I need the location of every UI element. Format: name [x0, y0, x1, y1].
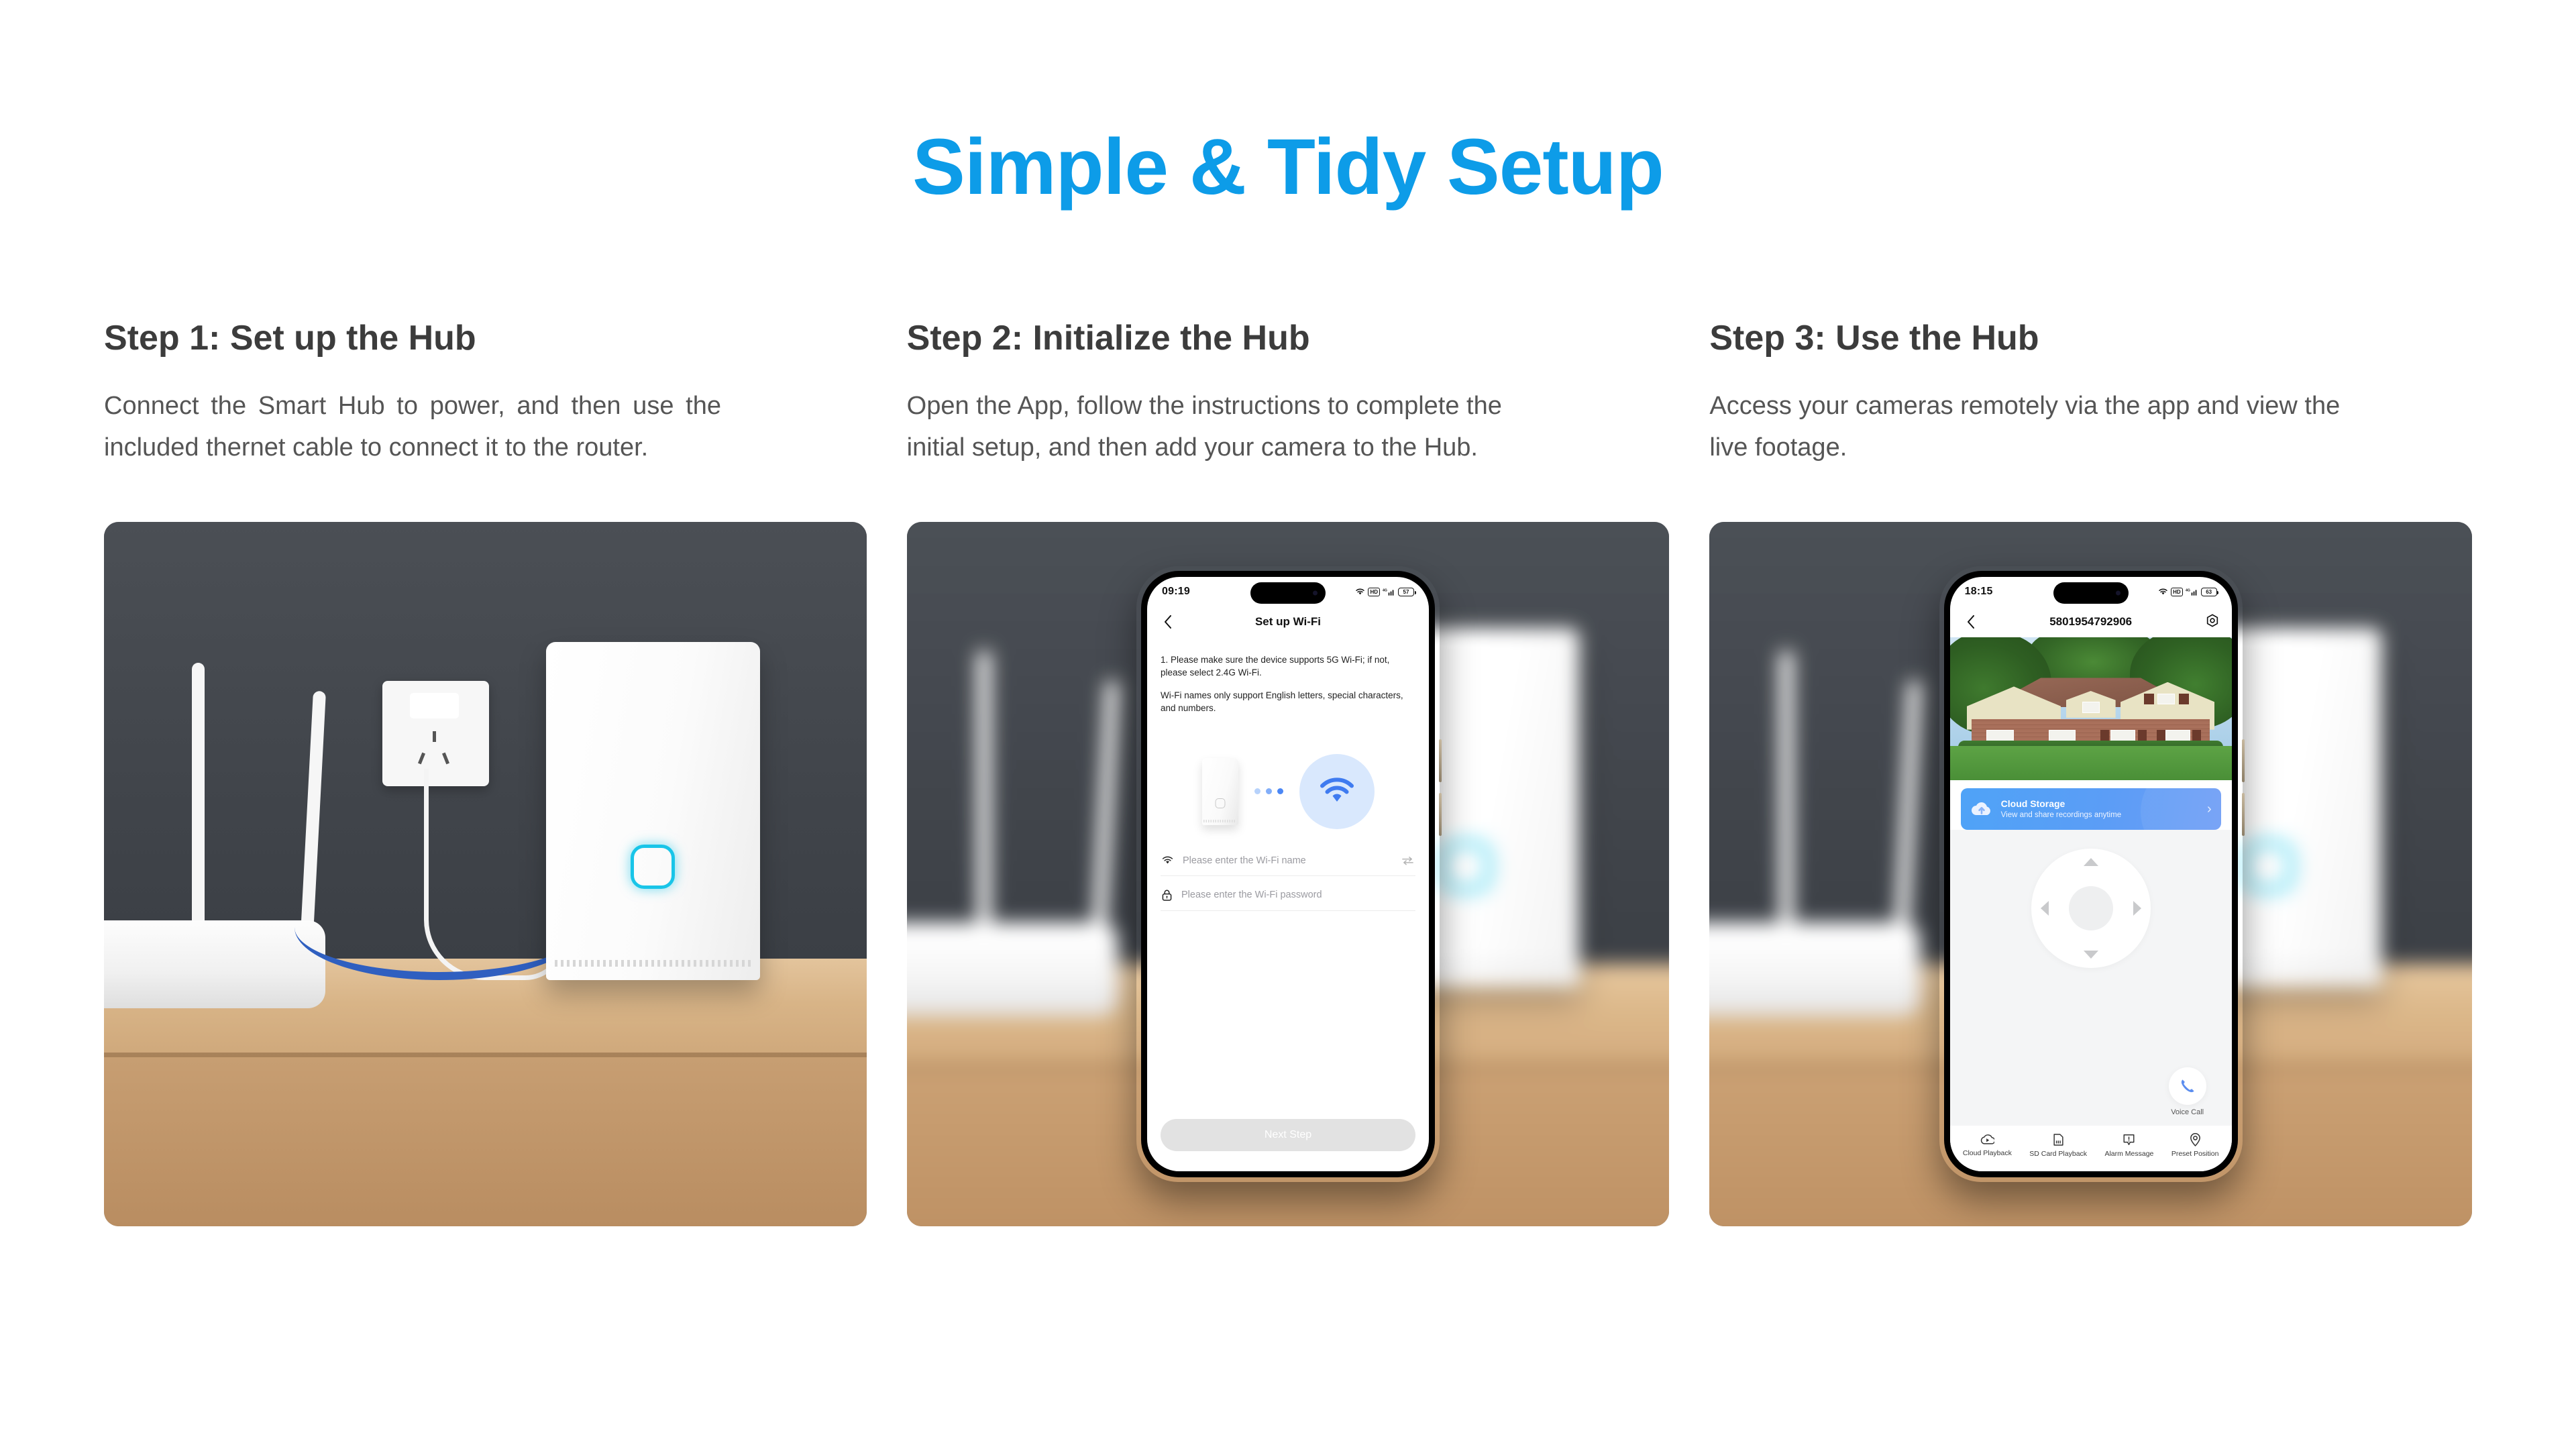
status-time: 09:19 [1162, 586, 1190, 598]
status-time: 18:15 [1965, 586, 1993, 598]
dynamic-island [2053, 582, 2129, 604]
socket-hole-left [418, 752, 425, 764]
hub-vent-illustration [1203, 820, 1236, 822]
step-3-body: Access your cameras remotely via the app… [1709, 386, 2340, 468]
socket-hole-top [433, 731, 436, 742]
lawn [1950, 746, 2232, 780]
front-camera-icon [1313, 591, 1318, 596]
ptz-left-icon[interactable] [2041, 901, 2049, 916]
pairing-diagram [1161, 741, 1415, 842]
step-2-text: Step 2: Initialize the Hub Open the App,… [907, 319, 1670, 468]
phone-volume-up-button[interactable] [1439, 739, 1442, 782]
tab-sd-card-playback[interactable]: SD Card Playback [2029, 1133, 2087, 1158]
svg-text:4G: 4G [1383, 588, 1387, 592]
tab-cloud-playback[interactable]: Cloud Playback [1963, 1133, 2012, 1157]
shutter [2179, 694, 2189, 704]
device-id-title: 5801954792906 [1950, 615, 2232, 629]
ptz-right-icon[interactable] [2133, 901, 2141, 916]
tab-label: Cloud Playback [1963, 1149, 2012, 1157]
desk-front [104, 1057, 867, 1226]
step-1-body: Connect the Smart Hub to power, and then… [104, 386, 721, 468]
dynamic-island [1250, 582, 1326, 604]
step-3-heading: Step 3: Use the Hub [1709, 319, 2472, 358]
battery-level: 63 [2206, 589, 2212, 595]
voice-call-label: Voice Call [2171, 1108, 2204, 1116]
wifi-note-2: Wi-Fi names only support English letters… [1161, 689, 1415, 714]
chevron-right-icon[interactable]: › [2207, 802, 2212, 817]
shutter [2144, 694, 2154, 704]
cloud-storage-title: Cloud Storage [2001, 798, 2121, 810]
wifi-setup-screen: 09:19 HD 4G [1147, 577, 1429, 1171]
phone-wifi-setup: 09:19 HD 4G [1136, 566, 1440, 1182]
wifi-note-1: 1. Please make sure the device supports … [1161, 653, 1415, 679]
battery-icon: 57 [1398, 588, 1414, 596]
status-icons: HD 4G 57 [1355, 588, 1414, 596]
house [1967, 675, 2215, 749]
cloud-storage-banner[interactable]: Cloud Storage View and share recordings … [1961, 788, 2221, 830]
step-1-text: Step 1: Set up the Hub Connect the Smart… [104, 319, 867, 468]
nav-bar: 5801954792906 [1950, 606, 2232, 637]
hd-badge: HD [2171, 588, 2183, 596]
next-step-container: Next Step [1161, 1119, 1415, 1171]
step-2-heading: Step 2: Initialize the Hub [907, 319, 1670, 358]
wifi-large-icon [1319, 777, 1355, 806]
phone-live-view: 18:15 HD 4G [1939, 566, 2243, 1182]
phone-bezel: 18:15 HD 4G [1944, 571, 2238, 1177]
hub-router-scene [104, 522, 867, 1226]
router-antenna-left [1780, 650, 1793, 934]
alert-message-icon [2122, 1133, 2136, 1146]
cloud-upload-icon [1970, 800, 1993, 818]
wifi-icon [1355, 588, 1365, 596]
wifi-bubble-icon [1299, 754, 1375, 829]
cloud-storage-text: Cloud Storage View and share recordings … [2001, 798, 2121, 820]
smart-hub [546, 642, 759, 980]
connection-dots [1254, 788, 1283, 794]
cellular-signal-icon: 4G [2186, 588, 2198, 596]
step-2-body: Open the App, follow the instructions to… [907, 386, 1538, 468]
tab-label: Alarm Message [2104, 1150, 2153, 1158]
wifi-name-field[interactable]: Please enter the Wi-Fi name [1161, 846, 1415, 876]
step-3-photo: 18:15 HD 4G [1709, 522, 2472, 1226]
phone-volume-down-button[interactable] [2242, 793, 2245, 836]
settings-nut-icon[interactable] [2205, 613, 2220, 631]
gable-window [2157, 694, 2175, 704]
router-body [104, 920, 325, 1008]
tab-label: SD Card Playback [2029, 1150, 2087, 1158]
voice-call-button[interactable]: Voice Call [2169, 1067, 2206, 1116]
status-bar: 18:15 HD 4G [1950, 577, 2232, 606]
lock-icon [1162, 890, 1172, 901]
step-2-photo: 09:19 HD 4G [907, 522, 1670, 1226]
wifi-password-placeholder: Please enter the Wi-Fi password [1181, 890, 1414, 900]
location-pin-icon [2189, 1132, 2202, 1146]
router-body [907, 923, 1118, 1016]
nav-bar: Set up Wi-Fi [1147, 606, 1429, 637]
phone-volume-up-button[interactable] [2242, 739, 2245, 782]
step-3-text: Step 3: Use the Hub Access your cameras … [1709, 319, 2472, 468]
ptz-down-icon[interactable] [2084, 951, 2098, 959]
phone-volume-down-button[interactable] [1439, 793, 1442, 836]
router-body [1709, 923, 1921, 1016]
router-antenna-left [977, 650, 990, 934]
status-bar: 09:19 HD 4G [1147, 577, 1429, 606]
tab-preset-position[interactable]: Preset Position [2171, 1132, 2219, 1158]
live-view-screen: 18:15 HD 4G [1950, 577, 2232, 1171]
bottom-tab-bar: Cloud Playback SD Card Playback [1950, 1126, 2232, 1171]
battery-icon: 63 [2201, 588, 2217, 596]
hub-illustration [1202, 758, 1238, 825]
hd-badge: HD [1368, 588, 1380, 596]
switch-arrows-icon[interactable] [1401, 856, 1414, 865]
ptz-center-button[interactable] [2069, 886, 2113, 930]
sd-card-icon [2052, 1133, 2065, 1146]
next-step-button[interactable]: Next Step [1161, 1119, 1415, 1151]
cloud-play-icon [1980, 1133, 1994, 1146]
wifi-icon [2158, 588, 2168, 596]
phone-icon [2169, 1067, 2206, 1105]
status-icons: HD 4G 63 [2158, 588, 2217, 596]
power-plug [410, 693, 459, 718]
steps-text-row: Step 1: Set up the Hub Connect the Smart… [0, 319, 2576, 468]
wifi-setup-body: 1. Please make sure the device supports … [1147, 637, 1429, 1171]
hub-vent [555, 960, 751, 967]
live-camera-feed[interactable] [1950, 637, 2232, 780]
phone-bezel: 09:19 HD 4G [1141, 571, 1435, 1177]
battery-level: 57 [1403, 589, 1409, 595]
tab-label: Preset Position [2171, 1150, 2219, 1158]
ptz-control-area: Voice Call [1950, 830, 2232, 1126]
wifi-icon [1162, 856, 1173, 865]
front-camera-icon [2116, 591, 2121, 596]
screen-title: Set up Wi-Fi [1147, 615, 1429, 629]
dormer-window [2082, 702, 2100, 714]
desk-edge [104, 1053, 867, 1057]
wifi-password-field[interactable]: Please enter the Wi-Fi password [1161, 880, 1415, 911]
hub-led-indicator [1442, 843, 1489, 890]
wifi-name-placeholder: Please enter the Wi-Fi name [1183, 855, 1392, 866]
ptz-dpad[interactable] [2031, 849, 2151, 968]
hub-led-illustration [1215, 798, 1225, 808]
step-1-photo [104, 522, 867, 1226]
hub-led-indicator [631, 845, 675, 889]
step-1-heading: Step 1: Set up the Hub [104, 319, 867, 358]
svg-text:4G: 4G [2186, 588, 2190, 592]
ptz-up-icon[interactable] [2084, 858, 2098, 866]
cellular-signal-icon: 4G [1383, 588, 1395, 596]
page-title: Simple & Tidy Setup [0, 127, 2576, 207]
cloud-storage-subtitle: View and share recordings anytime [2001, 810, 2121, 821]
socket-hole-right [442, 752, 449, 764]
steps-image-row: 09:19 HD 4G [0, 522, 2576, 1226]
router-antenna-left [192, 663, 205, 930]
tab-alarm-message[interactable]: Alarm Message [2104, 1133, 2153, 1158]
hub-led-indicator [2245, 843, 2292, 890]
